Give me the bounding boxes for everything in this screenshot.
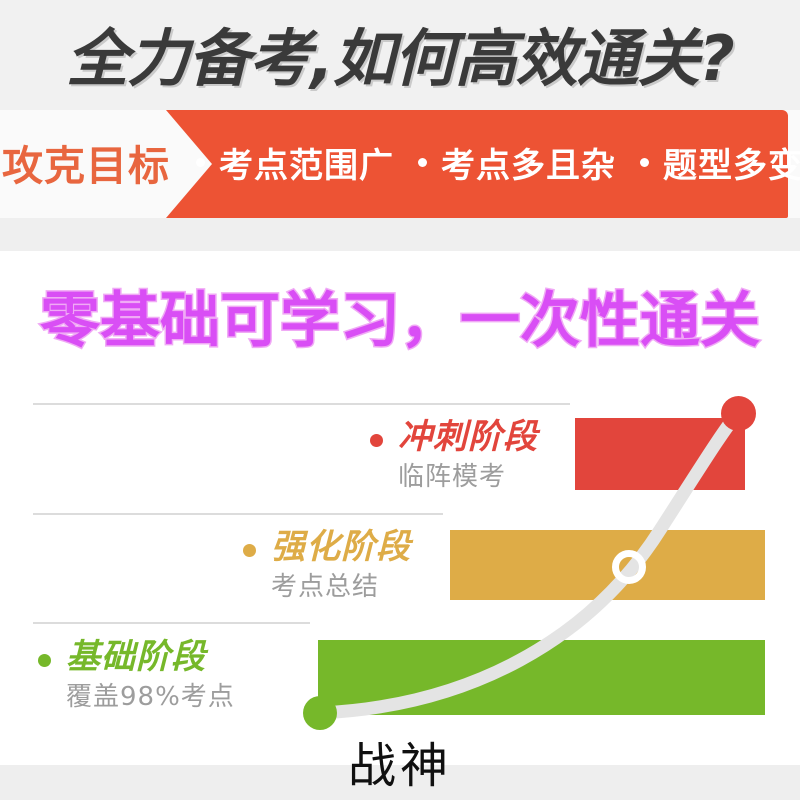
promo-poster: 全力备考,如何高效通关? 攻克目标 考点范围广 考点多且杂 题型多变 零基础可学…	[0, 0, 800, 800]
stage-subtitle: 考点总结	[271, 574, 411, 600]
middle-marker	[612, 550, 646, 584]
stage-label-basic: 基础阶段 覆盖98%考点	[38, 640, 235, 710]
dot-icon	[370, 434, 383, 447]
stage-subtitle: 覆盖98%考点	[66, 684, 235, 710]
stage-title: 冲刺阶段	[398, 420, 538, 454]
gridline-bottom	[33, 622, 310, 624]
stage-label-intensive: 强化阶段 考点总结	[243, 530, 411, 600]
dot-icon	[38, 654, 51, 667]
stage-title: 基础阶段	[66, 640, 235, 674]
bar-intensive-stage	[450, 530, 765, 600]
end-marker	[721, 396, 756, 431]
start-marker	[303, 696, 337, 730]
gridline-top	[33, 403, 570, 405]
bar-sprint-stage	[575, 418, 745, 490]
bar-basic-stage	[318, 640, 765, 715]
gridline-middle	[33, 513, 443, 515]
stage-progress-chart: 冲刺阶段 临阵模考 强化阶段 考点总结 基础阶段 覆盖98%考点	[0, 0, 800, 800]
stage-subtitle: 临阵模考	[398, 464, 538, 490]
stage-title: 强化阶段	[271, 530, 411, 564]
dot-icon	[243, 544, 256, 557]
footer-brand: 战神	[0, 726, 800, 796]
stage-label-sprint: 冲刺阶段 临阵模考	[370, 420, 538, 490]
